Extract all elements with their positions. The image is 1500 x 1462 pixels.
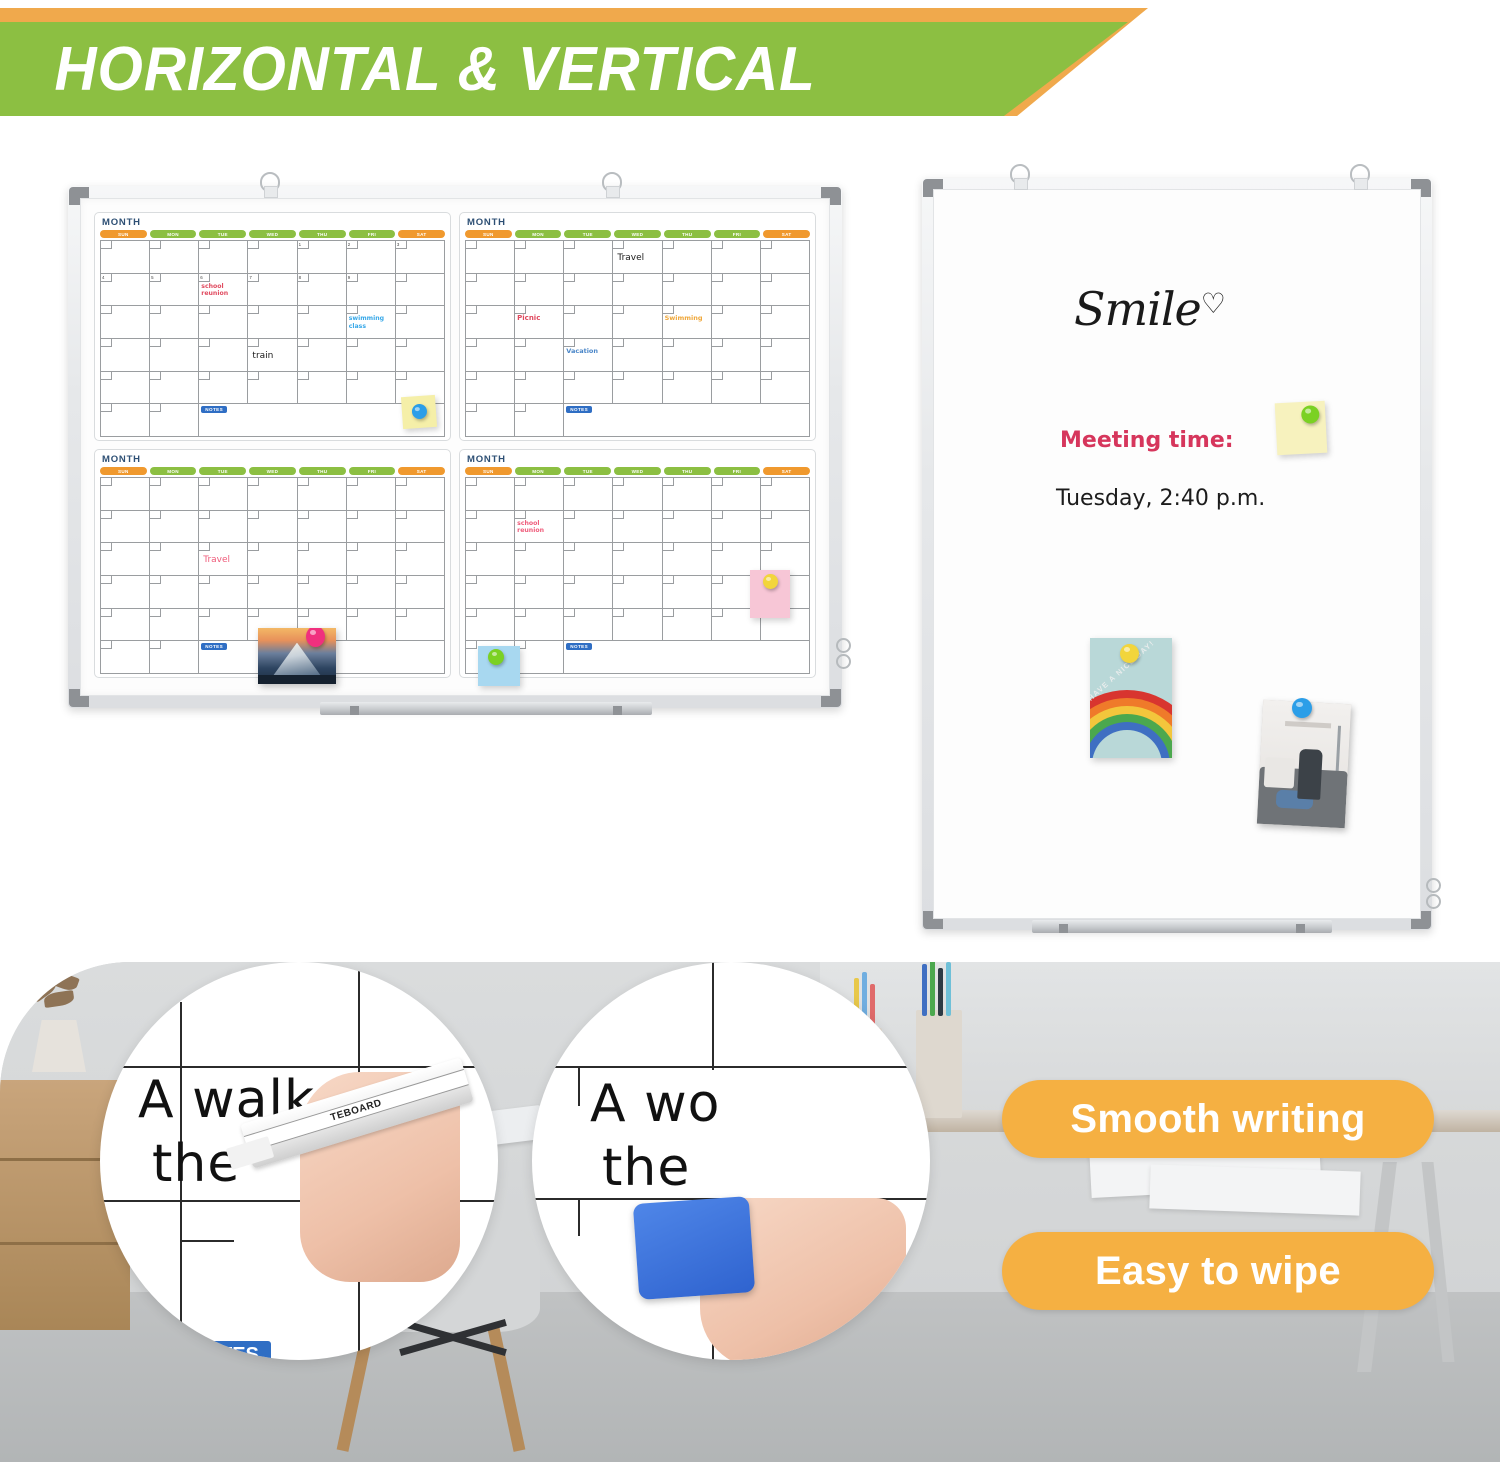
calendar-cell[interactable] — [515, 274, 564, 307]
calendar-cell[interactable] — [564, 274, 613, 307]
calendar-cell[interactable] — [101, 543, 150, 576]
calendar-cell[interactable] — [298, 372, 347, 405]
calendar-month-title: MONTH — [465, 454, 810, 465]
day-pill-sun: SUN — [465, 230, 512, 238]
calendar-cell[interactable] — [101, 372, 150, 405]
date-number — [613, 543, 624, 551]
date-number — [712, 306, 723, 314]
calendar-cell[interactable] — [199, 306, 248, 339]
date-number — [564, 609, 575, 617]
calendar-cell[interactable] — [466, 274, 515, 307]
handwriting-line-2: the — [602, 1138, 690, 1198]
date-number — [396, 609, 407, 617]
calendar-event: Travel — [617, 253, 660, 263]
date-number — [663, 543, 674, 551]
calendar-cell[interactable] — [466, 609, 515, 642]
calendar-cell[interactable] — [396, 306, 445, 339]
photo-person — [1297, 749, 1322, 800]
calendar-cell[interactable] — [150, 241, 199, 274]
calendar-cell[interactable] — [564, 372, 613, 405]
calendar-cell[interactable] — [712, 372, 761, 405]
date-number: 1 — [298, 241, 309, 249]
calendar-cell[interactable] — [101, 306, 150, 339]
calendar-cell[interactable] — [613, 609, 662, 642]
calendar-grid[interactable]: 1 2 3 4 5 6 school reunion 7 8 9 swimmin… — [100, 240, 445, 437]
calendar-cell[interactable]: swimming class — [347, 306, 396, 339]
calendar-cell[interactable] — [150, 576, 199, 609]
calendar-cell[interactable] — [613, 372, 662, 405]
calendar-cell[interactable] — [466, 576, 515, 609]
calendar-cell[interactable] — [298, 478, 347, 511]
scene-pen-holder — [916, 1010, 962, 1118]
date-number: 9 — [347, 274, 358, 282]
sticky-note-yellow[interactable] — [1275, 401, 1328, 456]
date-number — [613, 478, 624, 486]
calendar-cell[interactable]: 3 — [396, 241, 445, 274]
date-number — [199, 478, 210, 486]
calendar-cell[interactable] — [712, 478, 761, 511]
date-number — [515, 478, 526, 486]
calendar-cell[interactable] — [564, 543, 613, 576]
date-number — [515, 339, 526, 347]
calendar-cell[interactable] — [663, 609, 712, 642]
marker-tray — [1032, 920, 1332, 933]
date-number — [712, 339, 723, 347]
date-number — [761, 241, 772, 249]
notes-label: NOTES — [201, 406, 227, 413]
date-number — [466, 404, 477, 412]
side-hanging-ring-icon — [836, 638, 851, 653]
calendar-cell[interactable] — [150, 339, 199, 372]
calendar-cell[interactable]: 8 — [298, 274, 347, 307]
calendar-cell[interactable]: 7 — [248, 274, 297, 307]
calendar-cell[interactable] — [712, 339, 761, 372]
calendar-cell[interactable]: train — [248, 339, 297, 372]
calendar-cell[interactable] — [248, 372, 297, 405]
side-hanging-ring-icon — [1426, 894, 1441, 909]
magnet-blue-icon[interactable] — [411, 403, 427, 419]
calendar-event: Vacation — [566, 348, 611, 356]
calendar-cell[interactable]: 6 school reunion — [199, 274, 248, 307]
calendar-cell[interactable] — [199, 478, 248, 511]
date-number — [613, 372, 624, 380]
calendar-cell[interactable] — [663, 511, 712, 544]
calendar-cell[interactable] — [466, 306, 515, 339]
date-number — [101, 372, 112, 380]
calendar-daybar: SUN MON TUE WED THU FRI SAT — [465, 467, 810, 475]
calendar-cell[interactable] — [712, 241, 761, 274]
scene-pen — [922, 964, 927, 1016]
calendar-cell[interactable] — [101, 511, 150, 544]
day-pill-mon: MON — [150, 230, 197, 238]
calendar-cell[interactable]: 2 — [347, 241, 396, 274]
calendar-cell[interactable]: 9 — [347, 274, 396, 307]
date-number — [396, 306, 407, 314]
photo-living-room[interactable] — [1257, 700, 1351, 828]
calendar-cell[interactable] — [150, 478, 199, 511]
calendar-event: Picnic — [517, 315, 562, 323]
date-number — [150, 478, 161, 486]
calendar-cell[interactable] — [347, 576, 396, 609]
calendar-cell[interactable] — [101, 404, 150, 437]
day-pill-mon: MON — [150, 467, 197, 475]
date-number — [466, 543, 477, 551]
calendar-cell[interactable] — [712, 511, 761, 544]
date-number — [101, 306, 112, 314]
easy-to-wipe-circle: A wo the — [532, 962, 930, 1360]
date-number — [101, 511, 112, 519]
date-number — [298, 543, 309, 551]
day-pill-sat: SAT — [763, 467, 810, 475]
date-number — [564, 241, 575, 249]
date-number: 2 — [347, 241, 358, 249]
board-grid-line — [712, 962, 714, 1070]
date-number — [347, 478, 358, 486]
calendar-cell[interactable] — [663, 241, 712, 274]
date-number — [515, 543, 526, 551]
magnet-green-icon[interactable] — [488, 649, 504, 665]
calendar-cell[interactable] — [199, 372, 248, 405]
calendar-cell[interactable] — [466, 241, 515, 274]
calendar-event: school reunion — [517, 520, 562, 535]
day-pill-fri: FRI — [714, 467, 761, 475]
date-number — [150, 641, 161, 649]
calendar-cell[interactable] — [298, 306, 347, 339]
date-number — [663, 274, 674, 282]
magnet-yellow-icon[interactable] — [1120, 644, 1139, 663]
horizontal-whiteboard: MONTH SUN MON TUE WED THU FRI SAT 1 2 3 … — [68, 186, 842, 708]
date-number — [564, 372, 575, 380]
meeting-time-value: Tuesday, 2:40 p.m. — [1056, 486, 1265, 511]
calendar-event: Travel — [203, 555, 246, 565]
calendar-cell[interactable] — [663, 576, 712, 609]
board-grid-line — [532, 1066, 930, 1068]
sticky-note-blue[interactable] — [478, 646, 520, 686]
calendar-cell[interactable] — [761, 478, 810, 511]
calendar-cell[interactable] — [396, 339, 445, 372]
magnet-pink-icon[interactable] — [306, 628, 325, 647]
magnet-yellow-icon[interactable] — [763, 574, 778, 589]
calendar-cell[interactable] — [613, 543, 662, 576]
heart-icon: ♡ — [1201, 287, 1225, 320]
date-number — [396, 274, 407, 282]
calendar-cell[interactable]: school reunion — [515, 511, 564, 544]
calendar-cell[interactable] — [564, 241, 613, 274]
date-number — [150, 241, 161, 249]
calendar-cell[interactable] — [515, 478, 564, 511]
date-number — [712, 274, 723, 282]
calendar-cell[interactable] — [761, 274, 810, 307]
date-number — [248, 339, 259, 347]
date-number: 6 — [199, 274, 210, 282]
calendar-cell[interactable] — [515, 339, 564, 372]
notes-label: NOTES — [566, 406, 592, 413]
calendar-event: school reunion — [201, 283, 246, 298]
photo-mountain[interactable] — [258, 628, 336, 684]
sticky-note[interactable] — [401, 395, 437, 429]
date-number — [199, 306, 210, 314]
calendar-cell[interactable] — [761, 511, 810, 544]
calendar-cell[interactable] — [298, 543, 347, 576]
date-number — [199, 372, 210, 380]
calendar-cell[interactable] — [466, 372, 515, 405]
date-number — [396, 576, 407, 584]
calendar-cell[interactable] — [515, 609, 564, 642]
date-number — [564, 274, 575, 282]
calendar-cell[interactable] — [150, 404, 199, 437]
calendar-cell[interactable] — [150, 306, 199, 339]
calendar-cell[interactable] — [761, 306, 810, 339]
date-number — [150, 511, 161, 519]
date-number — [613, 609, 624, 617]
calendar-cell[interactable] — [761, 241, 810, 274]
calendar-cell[interactable]: Travel — [199, 543, 248, 576]
day-pill-thu: THU — [664, 467, 711, 475]
calendar-cell[interactable] — [663, 372, 712, 405]
calendar-cell[interactable] — [663, 274, 712, 307]
calendar-cell[interactable] — [347, 478, 396, 511]
meeting-time-label: Meeting time: — [1060, 428, 1234, 453]
date-number — [761, 478, 772, 486]
calendar-cell[interactable] — [347, 609, 396, 642]
calendar-top-left[interactable]: MONTH SUN MON TUE WED THU FRI SAT 1 2 3 … — [94, 212, 451, 441]
calendar-cell[interactable] — [613, 511, 662, 544]
day-pill-sun: SUN — [100, 467, 147, 475]
calendar-cell[interactable] — [515, 543, 564, 576]
notes-label: TES — [208, 1341, 271, 1360]
calendar-cell[interactable] — [298, 339, 347, 372]
date-number — [663, 306, 674, 314]
calendar-cell[interactable] — [515, 241, 564, 274]
day-pill-thu: THU — [664, 230, 711, 238]
calendar-cell[interactable] — [396, 543, 445, 576]
calendar-month-title: MONTH — [465, 217, 810, 228]
calendar-cell[interactable] — [248, 543, 297, 576]
date-number — [150, 372, 161, 380]
date-number — [347, 609, 358, 617]
date-number — [150, 404, 161, 412]
calendar-cell[interactable] — [564, 576, 613, 609]
date-number — [613, 511, 624, 519]
calendar-daybar: SUN MON TUE WED THU FRI SAT — [100, 467, 445, 475]
calendar-event: Swimming — [665, 315, 710, 323]
date-number — [564, 543, 575, 551]
bottom-lifestyle-scene: A walk the TES TEBOARD A wo the — [0, 962, 1500, 1462]
date-number — [761, 339, 772, 347]
calendar-cell[interactable]: Swimming — [663, 306, 712, 339]
calendar-cell[interactable] — [101, 609, 150, 642]
date-number — [248, 511, 259, 519]
calendar-cell[interactable] — [199, 339, 248, 372]
date-number — [396, 511, 407, 519]
calendar-cell[interactable] — [466, 404, 515, 437]
day-pill-fri: FRI — [349, 467, 396, 475]
calendar-cell[interactable]: Vacation — [564, 339, 613, 372]
calendar-cell[interactable] — [712, 274, 761, 307]
date-number — [663, 511, 674, 519]
date-number — [613, 339, 624, 347]
day-pill-mon: MON — [515, 467, 562, 475]
calendar-cell[interactable] — [150, 641, 199, 674]
calendar-cell[interactable] — [564, 511, 613, 544]
day-pill-tue: TUE — [564, 467, 611, 475]
calendar-cell[interactable] — [515, 576, 564, 609]
calendar-cell[interactable] — [712, 306, 761, 339]
calendar-cell[interactable] — [150, 511, 199, 544]
date-number — [564, 339, 575, 347]
day-pill-fri: FRI — [714, 230, 761, 238]
day-pill-wed: WED — [249, 230, 296, 238]
calendar-top-right[interactable]: MONTH SUN MON TUE WED THU FRI SAT Travel — [459, 212, 816, 441]
calendar-cell[interactable] — [347, 372, 396, 405]
header-banner: HORIZONTAL & VERTICAL — [0, 0, 1500, 150]
calendar-cell[interactable] — [396, 576, 445, 609]
sticky-note-pink[interactable] — [750, 570, 790, 618]
date-number — [150, 609, 161, 617]
hanging-ring-icon — [602, 172, 622, 192]
day-pill-fri: FRI — [349, 230, 396, 238]
date-number — [347, 306, 358, 314]
date-number — [712, 609, 723, 617]
calendar-cell[interactable] — [347, 543, 396, 576]
calendar-notes-area[interactable]: NOTES — [564, 641, 810, 674]
calendar-cell[interactable]: 4 — [101, 274, 150, 307]
calendar-cell[interactable] — [466, 339, 515, 372]
scene-pen — [938, 968, 943, 1016]
calendar-cell[interactable]: 5 — [150, 274, 199, 307]
calendar-cell[interactable] — [466, 543, 515, 576]
date-number — [663, 609, 674, 617]
calendar-cell[interactable] — [564, 478, 613, 511]
date-number — [515, 511, 526, 519]
day-pill-tue: TUE — [199, 467, 246, 475]
calendar-cell[interactable] — [761, 339, 810, 372]
calendar-cell[interactable]: Travel — [613, 241, 662, 274]
calendar-cell[interactable] — [150, 609, 199, 642]
calendar-cell[interactable] — [613, 478, 662, 511]
calendar-cell[interactable] — [150, 372, 199, 405]
magnet-blue-icon[interactable] — [1292, 698, 1312, 718]
calendar-cell[interactable]: Picnic — [515, 306, 564, 339]
calendar-cell[interactable] — [248, 511, 297, 544]
magnet-green-icon[interactable] — [1301, 405, 1320, 424]
date-number — [248, 241, 259, 249]
calendar-grid[interactable]: Travel Picnic Swimming — [465, 240, 810, 437]
calendar-cell[interactable] — [298, 511, 347, 544]
calendar-cell[interactable] — [101, 576, 150, 609]
hanging-ring-icon — [260, 172, 280, 192]
date-number — [663, 339, 674, 347]
calendar-notes-area[interactable]: NOTES — [564, 404, 810, 437]
date-number — [761, 306, 772, 314]
calendar-cell[interactable] — [199, 511, 248, 544]
calendar-cell[interactable]: 1 — [298, 241, 347, 274]
calendar-cell[interactable] — [466, 511, 515, 544]
day-pill-sun: SUN — [100, 230, 147, 238]
cabinet-drawer-line — [0, 1242, 130, 1245]
calendar-cell[interactable] — [515, 641, 564, 674]
calendar-cell[interactable] — [663, 478, 712, 511]
calendar-cell[interactable] — [101, 339, 150, 372]
date-number — [347, 339, 358, 347]
calendar-quadrants: MONTH SUN MON TUE WED THU FRI SAT 1 2 3 … — [94, 212, 816, 678]
calendar-cell[interactable] — [515, 404, 564, 437]
calendar-cell[interactable] — [101, 478, 150, 511]
date-number — [298, 306, 309, 314]
calendar-cell[interactable] — [663, 543, 712, 576]
calendar-cell[interactable] — [199, 609, 248, 642]
calendar-cell[interactable] — [101, 641, 150, 674]
date-number — [248, 543, 259, 551]
date-number — [248, 478, 259, 486]
calendar-cell[interactable] — [248, 241, 297, 274]
calendar-cell[interactable] — [101, 241, 150, 274]
badge-easy-to-wipe: Easy to wipe — [1002, 1232, 1434, 1310]
calendar-cell[interactable] — [564, 609, 613, 642]
calendar-cell[interactable] — [199, 241, 248, 274]
calendar-cell[interactable] — [150, 543, 199, 576]
calendar-cell[interactable] — [613, 274, 662, 307]
date-number — [515, 404, 526, 412]
calendar-cell[interactable] — [466, 478, 515, 511]
calendar-cell[interactable] — [515, 372, 564, 405]
calendar-cell[interactable] — [663, 339, 712, 372]
calendar-cell[interactable] — [396, 478, 445, 511]
calendar-cell[interactable] — [396, 274, 445, 307]
calendar-cell[interactable] — [564, 306, 613, 339]
date-number — [515, 609, 526, 617]
date-number — [466, 641, 477, 649]
calendar-cell[interactable] — [613, 339, 662, 372]
calendar-cell[interactable] — [613, 576, 662, 609]
calendar-cell[interactable] — [613, 306, 662, 339]
calendar-bottom-right[interactable]: MONTH SUN MON TUE WED THU FRI SAT — [459, 449, 816, 678]
date-number — [199, 609, 210, 617]
calendar-cell[interactable] — [248, 306, 297, 339]
calendar-cell[interactable] — [396, 511, 445, 544]
side-hanging-ring-icon — [1426, 878, 1441, 893]
banner-green-shape: HORIZONTAL & VERTICAL — [0, 22, 1128, 116]
date-number — [515, 241, 526, 249]
day-pill-wed: WED — [614, 467, 661, 475]
date-number — [101, 576, 112, 584]
date-number — [101, 404, 112, 412]
date-number — [347, 511, 358, 519]
calendar-cell[interactable] — [248, 478, 297, 511]
calendar-cell[interactable] — [396, 609, 445, 642]
date-number — [248, 306, 259, 314]
calendar-cell[interactable] — [347, 339, 396, 372]
date-number — [150, 339, 161, 347]
date-number — [298, 511, 309, 519]
calendar-cell[interactable] — [761, 372, 810, 405]
rainbow-card[interactable]: HAVE A NICE DAY! — [1090, 638, 1172, 758]
date-number — [101, 543, 112, 551]
date-number — [466, 511, 477, 519]
smooth-writing-circle: A walk the TES TEBOARD — [100, 962, 498, 1360]
date-number — [347, 576, 358, 584]
calendar-cell[interactable] — [248, 576, 297, 609]
date-number — [613, 306, 624, 314]
side-hanging-ring-icon — [836, 654, 851, 669]
date-number — [712, 241, 723, 249]
calendar-cell[interactable] — [347, 511, 396, 544]
calendar-cell[interactable] — [199, 576, 248, 609]
calendar-cell[interactable] — [298, 576, 347, 609]
date-number: 5 — [150, 274, 161, 282]
date-number — [101, 339, 112, 347]
day-pill-tue: TUE — [199, 230, 246, 238]
